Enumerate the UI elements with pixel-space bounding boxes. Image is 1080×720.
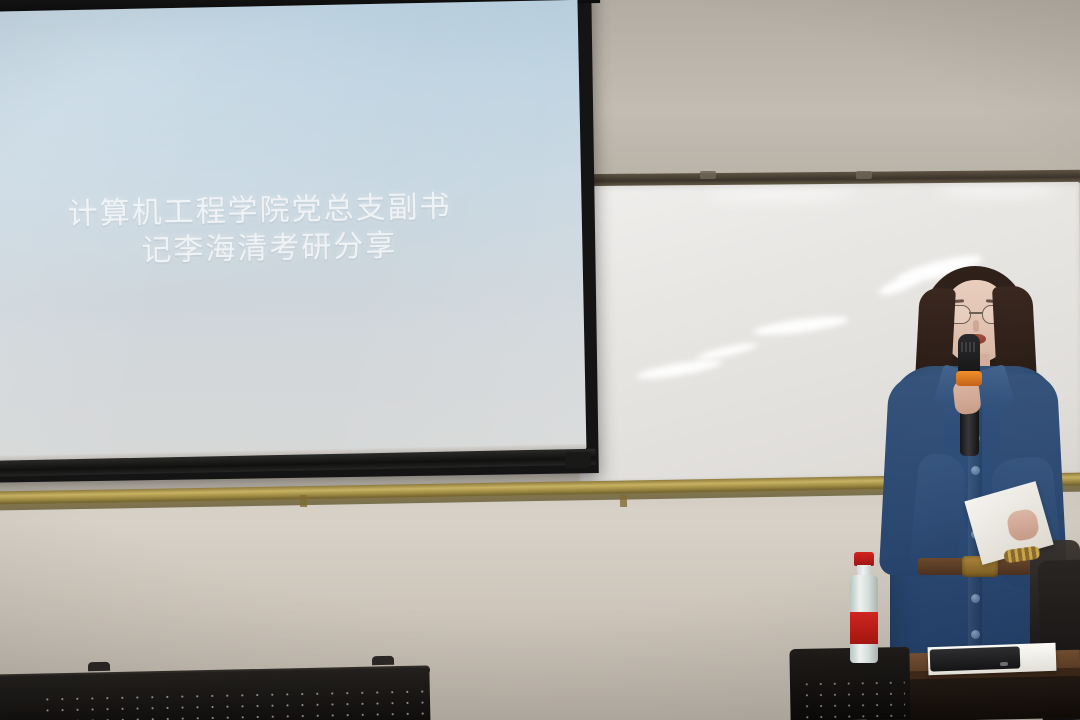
microphone-accent-band (956, 371, 982, 386)
trim-hook-2 (620, 495, 627, 507)
lecture-hall-photo: 计算机工程学院党总支副书 记李海清考研分享 (0, 0, 1080, 720)
microphone-grille (961, 342, 977, 352)
chair-right-perforation (800, 677, 906, 720)
dress-button-5 (971, 594, 980, 603)
whiteboard-glare-3 (752, 313, 849, 338)
projection-screen-surface (0, 0, 586, 460)
bottle-label (850, 612, 878, 644)
dress-button-6 (971, 630, 980, 639)
whiteboard-glare-7 (937, 186, 1057, 197)
whiteboard-clip-right (856, 171, 872, 179)
whiteboard-clip-left (700, 171, 716, 179)
projection-screen-bar-cap (565, 452, 591, 469)
bottle-cap (854, 552, 874, 566)
nose (973, 320, 979, 332)
dress-button-2 (971, 466, 980, 475)
upper-wall-panel (575, 0, 1080, 182)
whiteboard-glare-6 (707, 190, 857, 201)
trim-hook-1 (300, 495, 307, 507)
device-indicator (1000, 662, 1008, 666)
whiteboard-glare-2 (696, 340, 758, 362)
microphone-head (958, 334, 980, 374)
whiteboard-glare-1 (636, 356, 723, 382)
black-device-on-desk (930, 646, 1021, 671)
projection-screen-sheen (0, 0, 586, 460)
chair-knob-2 (372, 656, 394, 665)
water-bottle (848, 552, 880, 664)
chair-knob-1 (88, 662, 110, 671)
glasses-bridge (969, 312, 983, 314)
